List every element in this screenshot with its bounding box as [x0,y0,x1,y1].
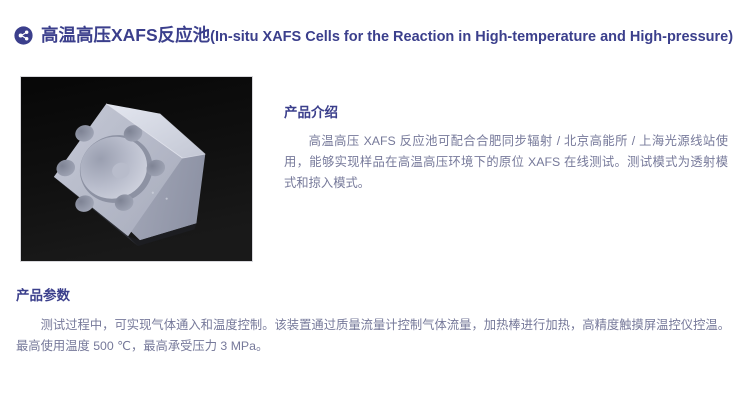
page-header: 高温高压XAFS反应池(In-situ XAFS Cells for the R… [14,24,738,48]
parameters-paragraph: 测试过程中，可实现气体通入和温度控制。该装置通过质量流量计控制气体流量，加热棒进… [16,315,730,357]
introduction-heading: 产品介绍 [284,104,728,122]
introduction-paragraph: 高温高压 XAFS 反应池可配合合肥同步辐射 / 北京高能所 / 上海光源线站使… [284,131,728,194]
product-render-3d [21,77,252,261]
product-image[interactable] [20,76,253,262]
parameters-heading: 产品参数 [16,287,730,305]
share-icon[interactable] [14,26,33,45]
page-title: 高温高压XAFS反应池(In-situ XAFS Cells for the R… [41,24,733,48]
page-title-cn: 高温高压XAFS反应池 [41,25,210,45]
product-parameters-section: 产品参数 测试过程中，可实现气体通入和温度控制。该装置通过质量流量计控制气体流量… [16,287,730,357]
product-introduction-section: 产品介绍 高温高压 XAFS 反应池可配合合肥同步辐射 / 北京高能所 / 上海… [284,104,728,194]
page-title-en: (In-situ XAFS Cells for the Reaction in … [210,29,733,45]
